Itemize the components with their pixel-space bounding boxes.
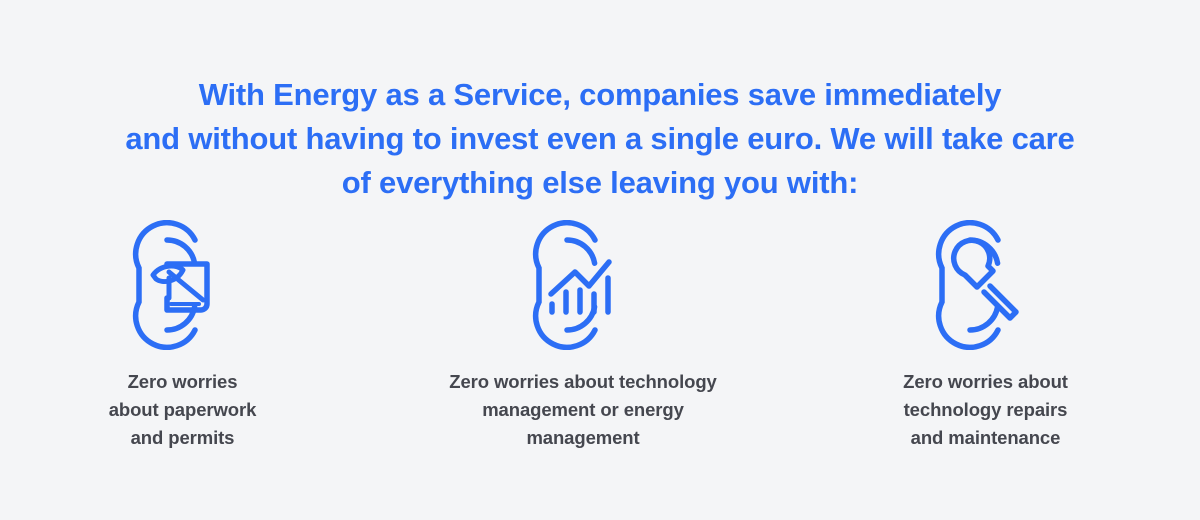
benefits-row: Zero worries about paperwork and permits [0, 220, 1200, 452]
bar-chart-trend-pill-icon [523, 220, 643, 350]
caption-line: Zero worries about technology [449, 368, 716, 396]
caption-line: and maintenance [903, 424, 1068, 452]
headline-line-3: of everything else leaving you with: [40, 161, 1160, 205]
caption-line: and permits [109, 424, 257, 452]
caption-line: management [449, 424, 716, 452]
document-quill-pill-icon [123, 220, 243, 350]
promo-banner: With Energy as a Service, companies save… [0, 0, 1200, 520]
benefit-card-maintenance: Zero worries about technology repairs an… [803, 220, 1168, 452]
benefit-card-management: Zero worries about technology management… [383, 220, 783, 452]
page-headline: With Energy as a Service, companies save… [0, 73, 1200, 205]
benefit-caption-maintenance: Zero worries about technology repairs an… [903, 368, 1068, 452]
wrench-pill-icon [926, 220, 1046, 350]
caption-line: Zero worries about [903, 368, 1068, 396]
caption-line: about paperwork [109, 396, 257, 424]
benefit-card-paperwork: Zero worries about paperwork and permits [0, 220, 365, 452]
caption-line: management or energy [449, 396, 716, 424]
headline-line-2: and without having to invest even a sing… [40, 117, 1160, 161]
caption-line: Zero worries [109, 368, 257, 396]
benefit-caption-paperwork: Zero worries about paperwork and permits [109, 368, 257, 452]
headline-line-1: With Energy as a Service, companies save… [40, 73, 1160, 117]
caption-line: technology repairs [903, 396, 1068, 424]
benefit-caption-management: Zero worries about technology management… [449, 368, 716, 452]
